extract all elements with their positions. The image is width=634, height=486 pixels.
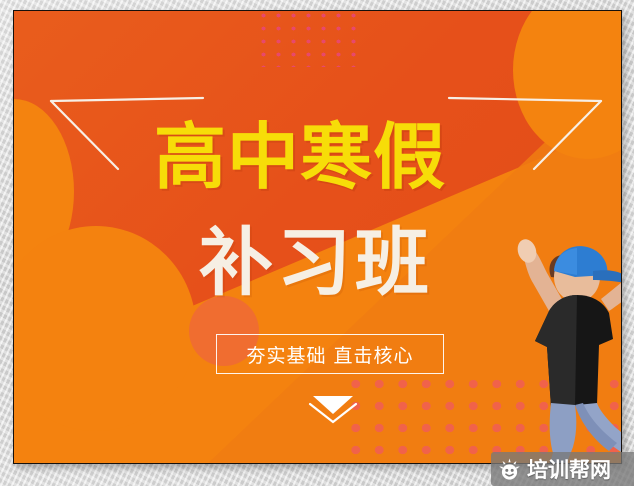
- subtitle-text: 夯实基础 直击核心: [246, 341, 413, 368]
- poster-frame: 高中寒假 补习班 夯实基础 直击核心: [13, 10, 622, 464]
- down-chevron-icon: [307, 392, 359, 424]
- watermark: 培训帮网: [491, 452, 634, 486]
- subtitle-box: 夯实基础 直击核心: [216, 334, 444, 374]
- sun-smiley-logo-icon: [498, 458, 521, 481]
- watermark-text: 培训帮网: [527, 454, 611, 484]
- poster-canvas: 高中寒假 补习班 夯实基础 直击核心: [14, 11, 621, 463]
- poster-title-line2: 补习班: [199, 226, 433, 300]
- poster-title-line1: 高中寒假: [154, 121, 446, 193]
